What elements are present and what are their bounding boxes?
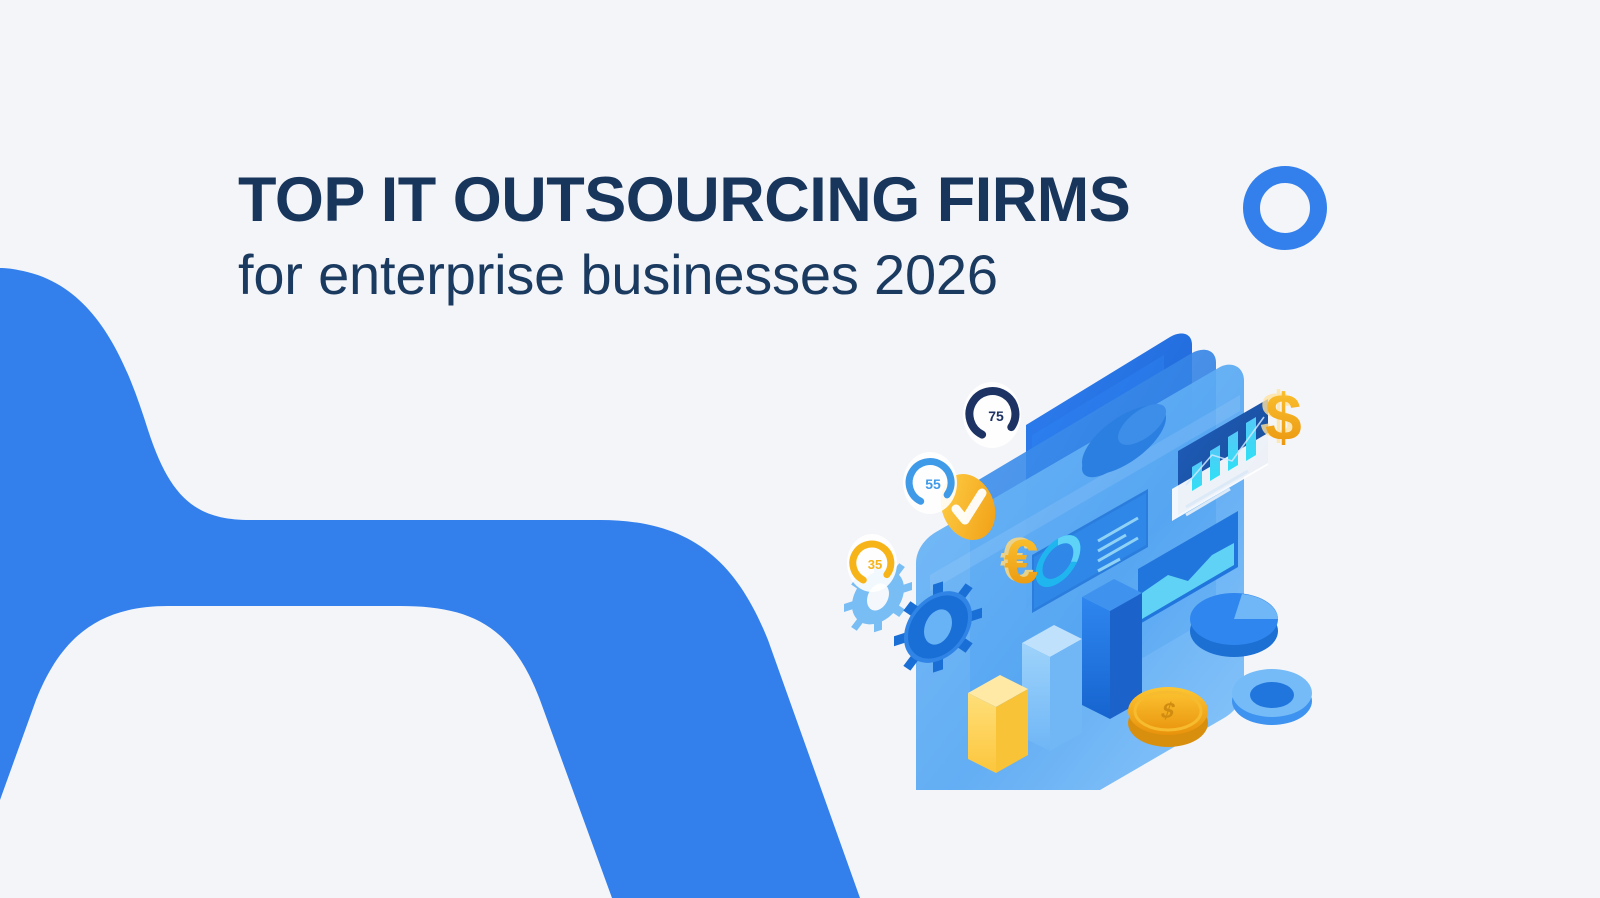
euro-symbol-icon: € €: [1000, 526, 1038, 597]
gauge-35: 35: [847, 534, 897, 592]
svg-text:€: €: [1004, 528, 1038, 597]
donut-3d: [1232, 669, 1312, 725]
gauge-value-55: 55: [925, 476, 941, 492]
bar-3d-light-blue: [1022, 625, 1082, 751]
decorative-wave-band: [0, 0, 1600, 898]
ring-logo-icon: [1243, 166, 1327, 250]
pie-chart-3d: [1190, 593, 1278, 657]
svg-text:$: $: [1265, 380, 1302, 454]
dollar-coin-icon: $: [1128, 687, 1208, 747]
gauge-75: 75: [963, 382, 1021, 448]
bar-3d-yellow: [968, 675, 1028, 773]
analytics-illustration: € € $ $: [820, 275, 1320, 790]
gauge-55: 55: [903, 452, 957, 514]
page-title: TOP IT OUTSOURCING FIRMS: [238, 168, 1198, 232]
bar-3d-dark-blue: [1082, 579, 1142, 719]
poster-canvas: TOP IT OUTSOURCING FIRMS for enterprise …: [0, 0, 1600, 898]
illustration-svg: € € $ $: [820, 275, 1320, 790]
gauge-value-75: 75: [988, 408, 1004, 424]
dollar-symbol-icon: $ $: [1260, 378, 1302, 454]
gauge-value-35: 35: [868, 557, 882, 572]
